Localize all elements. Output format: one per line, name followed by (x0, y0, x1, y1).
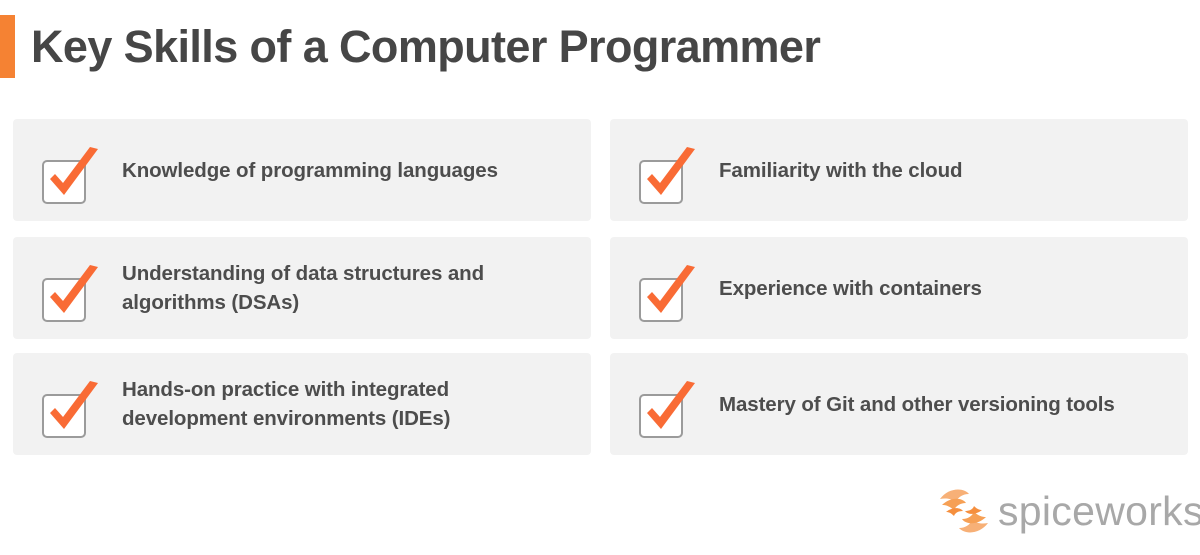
checkbox-checked-icon (42, 381, 104, 437)
skill-label: Hands-on practice with integrated develo… (122, 353, 577, 455)
spiceworks-logo[interactable]: spiceworks (936, 483, 1190, 539)
spiceworks-wordmark: spiceworks (998, 483, 1200, 539)
skill-label: Familiarity with the cloud (719, 119, 1174, 221)
spiceworks-pinwheel-icon (936, 485, 992, 537)
checkbox-checked-icon (42, 265, 104, 321)
skill-card[interactable]: Experience with containers (610, 237, 1188, 339)
page-header: Key Skills of a Computer Programmer (0, 15, 1200, 79)
skill-label: Understanding of data structures and alg… (122, 237, 577, 339)
skill-card[interactable]: Understanding of data structures and alg… (13, 237, 591, 339)
skill-card[interactable]: Knowledge of programming languages (13, 119, 591, 221)
checkbox-checked-icon (639, 381, 701, 437)
checkbox-checked-icon (639, 265, 701, 321)
checkbox-checked-icon (639, 147, 701, 203)
skill-card[interactable]: Mastery of Git and other versioning tool… (610, 353, 1188, 455)
skill-label: Knowledge of programming languages (122, 119, 577, 221)
skill-card[interactable]: Hands-on practice with integrated develo… (13, 353, 591, 455)
title-accent-bar (0, 15, 15, 78)
skills-grid: Knowledge of programming languages Under… (13, 119, 1187, 455)
page-title: Key Skills of a Computer Programmer (31, 13, 820, 81)
skill-card[interactable]: Familiarity with the cloud (610, 119, 1188, 221)
checkbox-checked-icon (42, 147, 104, 203)
skill-label: Mastery of Git and other versioning tool… (719, 353, 1174, 455)
skill-label: Experience with containers (719, 237, 1174, 339)
